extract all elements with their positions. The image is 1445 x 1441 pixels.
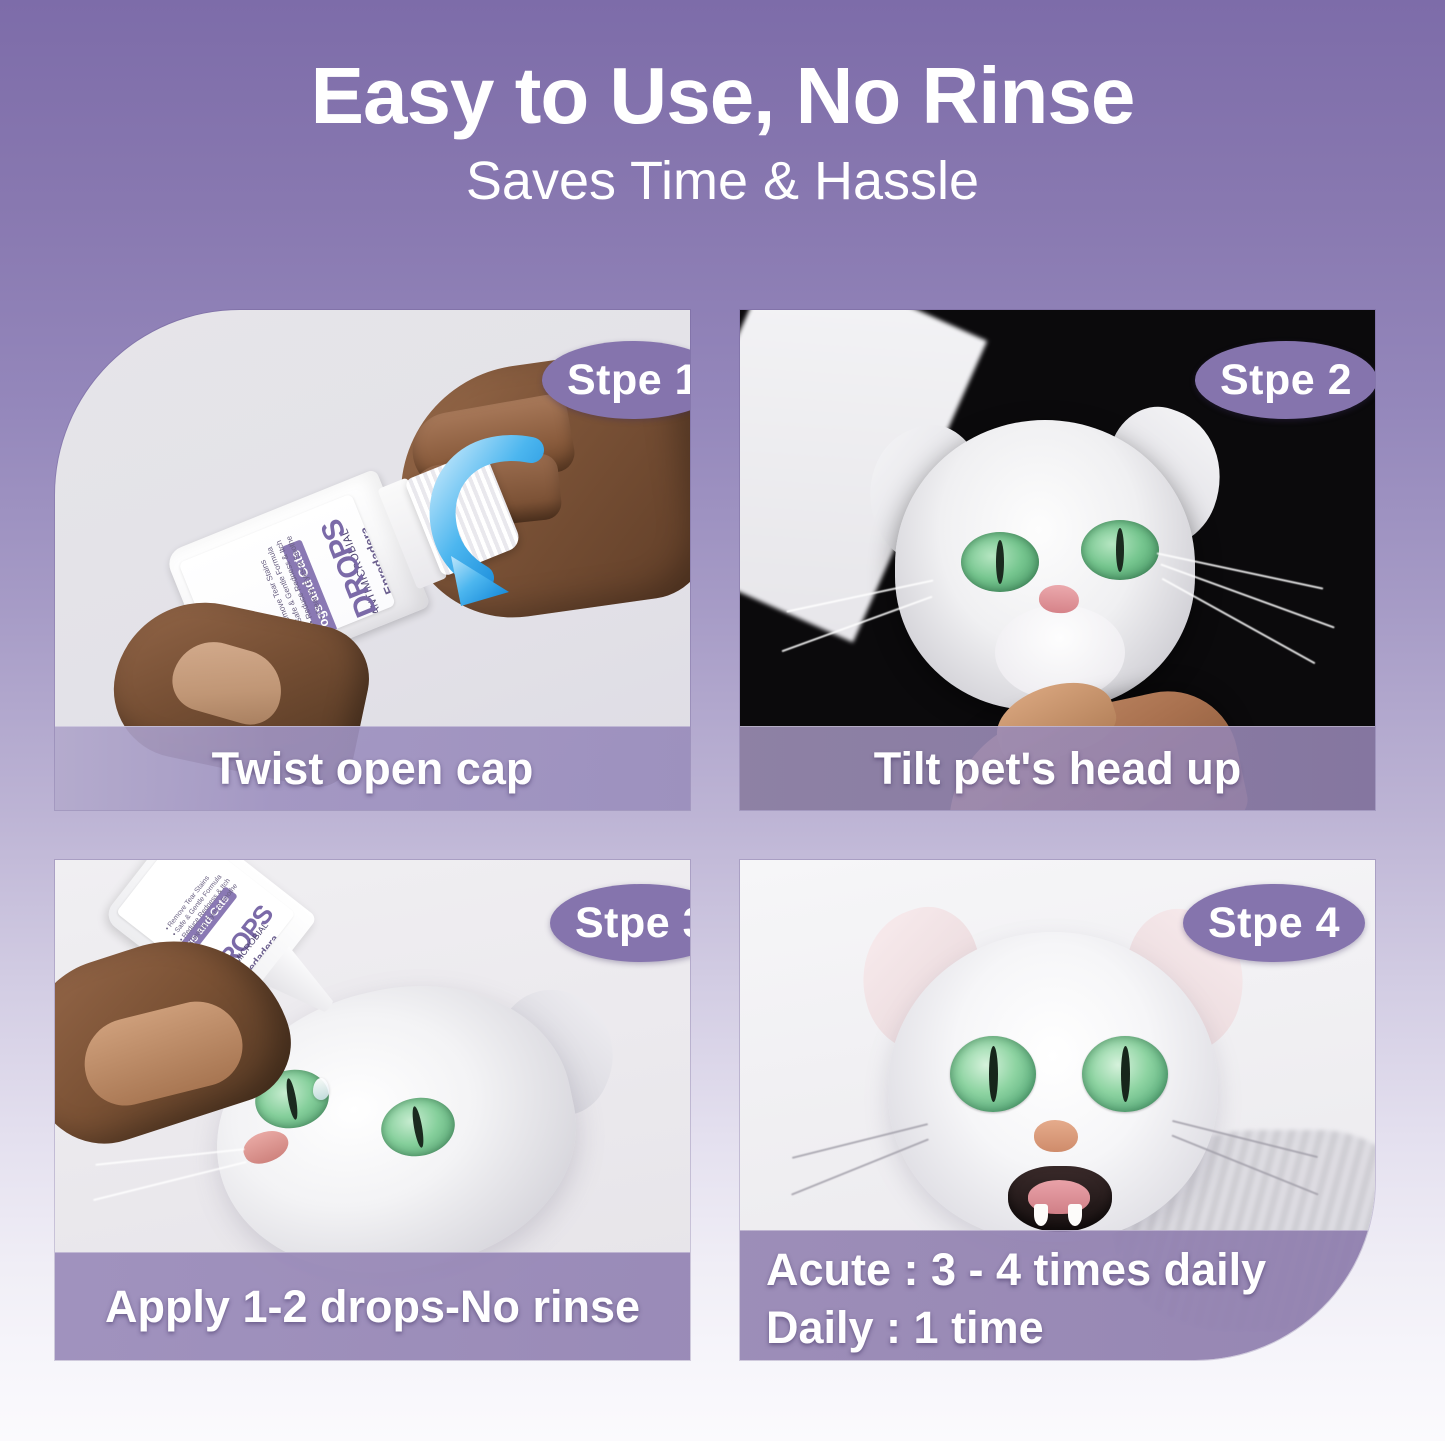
cat-tooth [1034,1204,1048,1226]
step-1-caption: Twist open cap [55,726,690,810]
page-subtitle: Saves Time & Hassle [0,150,1445,212]
cat-eye-left [961,532,1039,592]
cat-pupil [1116,528,1124,572]
cat-pupil [996,540,1004,584]
cat-tooth [1068,1204,1082,1226]
cat-pupil [284,1078,299,1121]
cat-pupil [410,1106,425,1149]
cat-eye-right [1081,520,1159,580]
header: Easy to Use, No Rinse Saves Time & Hassl… [0,0,1445,212]
step-panel-4[interactable]: Stpe 4 Acute : 3 - 4 times daily Daily :… [740,860,1375,1360]
step-panel-1[interactable]: Enredadera ANTIMICROBIAL EYE DROPS For D… [55,310,690,810]
step-3-caption: Apply 1-2 drops-No rinse [55,1252,690,1360]
cat-pupil [989,1046,998,1102]
step-4-caption-line-1: Acute : 3 - 4 times daily [766,1241,1375,1299]
step-4-caption-line-2: Daily : 1 time [766,1299,1375,1357]
step-panel-2[interactable]: Stpe 2 Tilt pet's head up [740,310,1375,810]
eye-drop-droplet [313,1078,329,1100]
step-panel-3[interactable]: EYE DROPS ANTIMICROBIAL Enredadera For D… [55,860,690,1360]
cat-eye-left [950,1036,1036,1112]
step-4-badge: Stpe 4 [1183,884,1365,962]
steps-grid: Enredadera ANTIMICROBIAL EYE DROPS For D… [55,310,1360,1400]
twist-rotation-arrow-icon [427,428,577,618]
cat-eye-right [1082,1036,1168,1112]
step-2-caption: Tilt pet's head up [740,726,1375,810]
page-title: Easy to Use, No Rinse [0,52,1445,140]
cat-pupil [1121,1046,1130,1102]
cat-nose [1034,1120,1078,1152]
step-4-caption: Acute : 3 - 4 times daily Daily : 1 time [740,1230,1375,1360]
step-2-badge: Stpe 2 [1195,341,1375,419]
